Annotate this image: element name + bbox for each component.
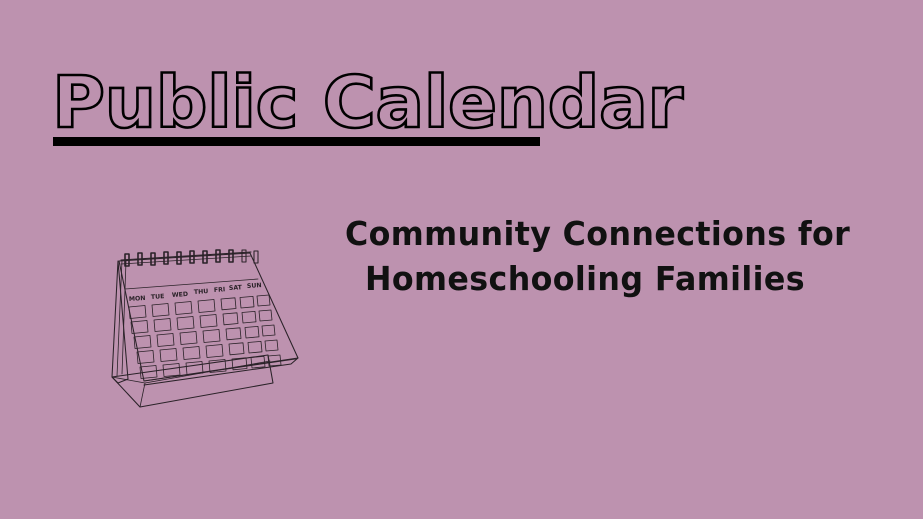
day-header-tue: TUE [151, 293, 165, 301]
day-header-thu: THU [194, 288, 209, 296]
desk-calendar-icon: MON TUE WED THU FRI SAT SUN [98, 243, 313, 418]
day-header-row: MON TUE WED THU FRI SAT SUN [129, 282, 262, 303]
day-header-wed: WED [172, 291, 189, 299]
title-block: Public Calendar [52, 66, 672, 152]
calendar-illustration: MON TUE WED THU FRI SAT SUN [98, 243, 313, 418]
day-header-mon: MON [129, 295, 146, 303]
subtitle-line-1: Community Connections for [345, 211, 825, 256]
date-grid [129, 295, 281, 379]
day-header-fri: FRI [214, 286, 226, 294]
subtitle-block: Community Connections for Homeschooling … [335, 211, 835, 301]
day-header-sat: SAT [229, 284, 243, 292]
page-title: Public Calendar [52, 66, 683, 140]
day-header-sun: SUN [247, 282, 262, 290]
title-underline [53, 137, 540, 146]
slide-canvas: Public Calendar Community Connections fo… [0, 0, 923, 519]
subtitle-line-2: Homeschooling Families [345, 256, 825, 301]
